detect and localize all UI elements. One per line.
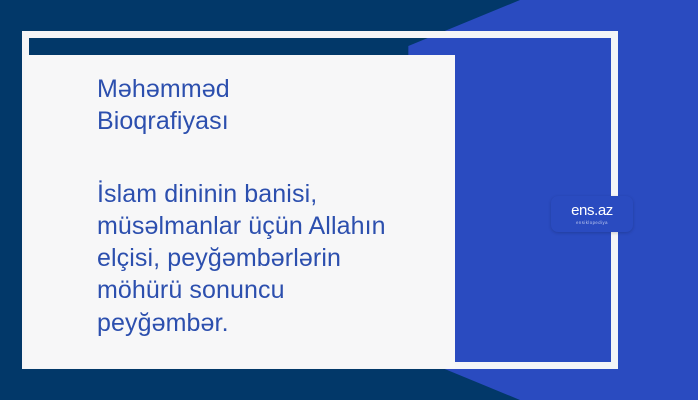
ens-az-logo-badge[interactable]: ens.az ensiklopediya	[551, 196, 633, 232]
slide-canvas: Məhəmməd Bioqrafiyası İslam dininin bani…	[0, 0, 698, 400]
logo-tagline: ensiklopediya	[576, 221, 608, 225]
page-title: Məhəmməd Bioqrafiyası	[97, 73, 445, 138]
content-card-text-block: Məhəmməd Bioqrafiyası İslam dininin bani…	[97, 73, 445, 339]
description-text: İslam dininin banisi, müsəlmanlar üçün A…	[97, 178, 445, 339]
logo-wordmark: ens.az	[571, 203, 613, 218]
content-card: Məhəmməd Bioqrafiyası İslam dininin bani…	[25, 55, 455, 368]
